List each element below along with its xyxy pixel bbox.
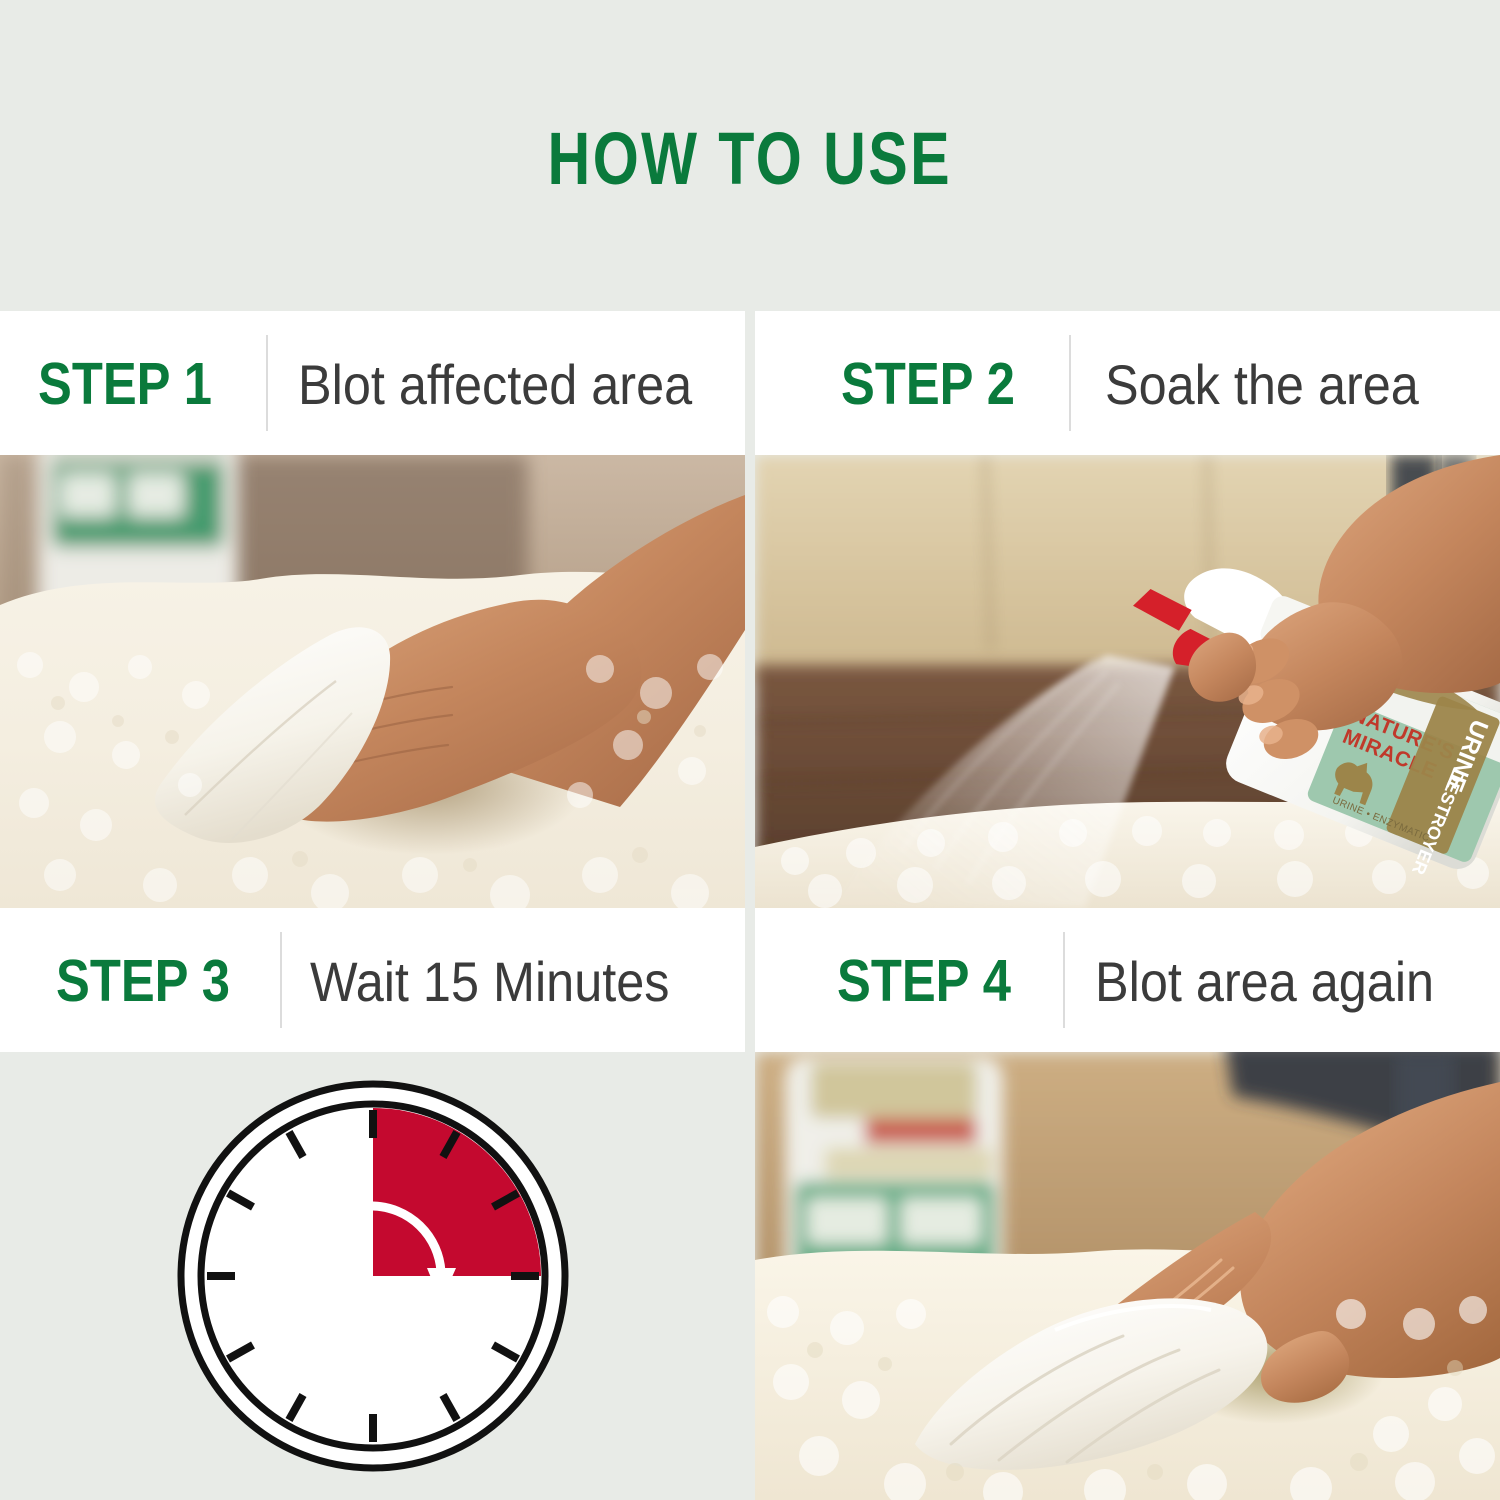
step-4-label: STEP 4 bbox=[837, 949, 1011, 1011]
soak-the-area-photo: NATURE'S MIRACLE URINE DESTROYER URINE •… bbox=[755, 455, 1500, 908]
clock-illustration bbox=[0, 1052, 745, 1500]
step-3-label: STEP 3 bbox=[56, 949, 230, 1011]
step-3-header: STEP 3 Wait 15 Minutes bbox=[0, 908, 745, 1052]
blot-affected-area-photo bbox=[0, 455, 745, 908]
step-2-description: Soak the area bbox=[1105, 354, 1419, 413]
step-4-divider bbox=[1063, 932, 1065, 1028]
step-2-divider bbox=[1069, 335, 1071, 431]
step-1-divider bbox=[266, 335, 268, 431]
step-2-header: STEP 2 Soak the area bbox=[755, 311, 1500, 455]
step-1-header: STEP 1 Blot affected area bbox=[0, 311, 745, 455]
how-to-use-infographic: HOW TO USE STEP 1 Blot affected area STE… bbox=[0, 0, 1500, 1500]
step-2-label: STEP 2 bbox=[841, 352, 1015, 414]
page-title: HOW TO USE bbox=[548, 116, 952, 196]
step-4-header: STEP 4 Blot area again bbox=[755, 908, 1500, 1052]
blot-area-again-photo bbox=[755, 1052, 1500, 1500]
step-1-label: STEP 1 bbox=[38, 352, 212, 414]
step-4-description: Blot area again bbox=[1095, 951, 1434, 1010]
step-3-divider bbox=[280, 932, 282, 1028]
title-band: HOW TO USE bbox=[0, 0, 1500, 311]
step-3-description: Wait 15 Minutes bbox=[310, 951, 669, 1010]
step-1-description: Blot affected area bbox=[298, 354, 692, 413]
